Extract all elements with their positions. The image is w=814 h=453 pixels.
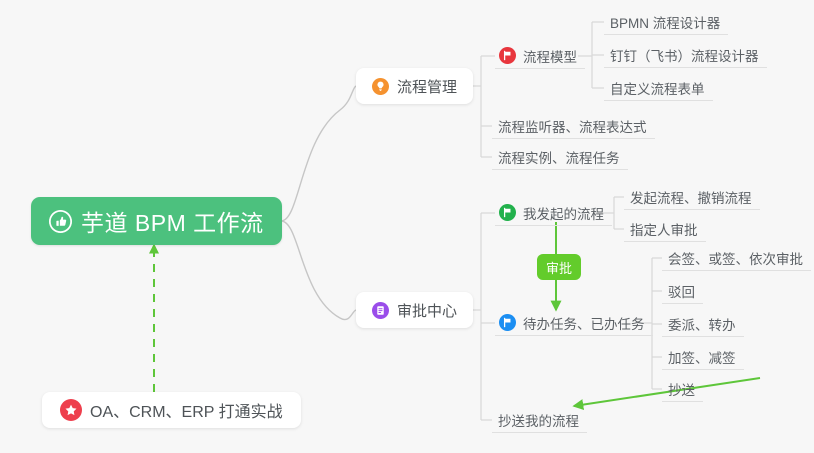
note-oa-crm-erp[interactable]: OA、CRM、ERP 打通实战: [42, 392, 301, 428]
node-label: 流程模型: [523, 46, 577, 66]
flag-icon: [499, 314, 516, 331]
node-my-started[interactable]: 我发起的流程: [495, 200, 612, 226]
node-label: 委派、转办: [668, 314, 736, 334]
node-add-remove-sign[interactable]: 加签、减签: [662, 344, 744, 370]
node-label: BPMN 流程设计器: [610, 12, 720, 32]
node-label: 待办任务、已办任务: [523, 313, 645, 333]
note-label: OA、CRM、ERP 打通实战: [90, 398, 283, 422]
node-label: 钉钉（飞书）流程设计器: [610, 45, 759, 65]
node-label: 发起流程、撤销流程: [630, 187, 752, 207]
node-label: 我发起的流程: [523, 203, 604, 223]
clipboard-icon: [372, 302, 389, 319]
node-label: 驳回: [668, 281, 695, 301]
node-label: 加签、减签: [668, 347, 736, 367]
node-label: 抄送我的流程: [498, 410, 579, 430]
mindmap-canvas: 芋道 BPM 工作流 流程管理 流程模型 BPMN 流程设计器 钉钉（飞书）流程…: [0, 0, 814, 453]
node-listener-expression[interactable]: 流程监听器、流程表达式: [492, 113, 655, 139]
star-icon: [60, 399, 82, 421]
flag-icon: [499, 204, 516, 221]
root-node[interactable]: 芋道 BPM 工作流: [31, 197, 282, 245]
node-start-revoke[interactable]: 发起流程、撤销流程: [624, 184, 760, 210]
node-reject[interactable]: 驳回: [662, 278, 703, 304]
approval-pill-label: 审批: [546, 258, 572, 277]
node-todo-done[interactable]: 待办任务、已办任务: [495, 310, 653, 336]
node-bpmn-designer[interactable]: BPMN 流程设计器: [604, 9, 728, 35]
node-cc[interactable]: 抄送: [662, 376, 703, 402]
node-custom-form[interactable]: 自定义流程表单: [604, 75, 713, 101]
node-delegate-transfer[interactable]: 委派、转办: [662, 311, 744, 337]
branch-approval-center[interactable]: 审批中心: [356, 292, 473, 328]
branch-label: 审批中心: [397, 300, 457, 321]
edge-root-to-process-management: [281, 86, 356, 221]
node-cc-to-me[interactable]: 抄送我的流程: [492, 407, 587, 433]
node-label: 流程监听器、流程表达式: [498, 116, 647, 136]
node-assign-approver[interactable]: 指定人审批: [624, 216, 706, 242]
node-label: 抄送: [668, 379, 695, 399]
root-label: 芋道 BPM 工作流: [81, 204, 264, 238]
lightbulb-icon: [372, 78, 389, 95]
edge-root-to-approval-center: [281, 221, 356, 320]
node-dingtalk-designer[interactable]: 钉钉（飞书）流程设计器: [604, 42, 767, 68]
thumbs-up-icon: [49, 210, 72, 233]
node-label: 自定义流程表单: [610, 78, 705, 98]
node-instance-task[interactable]: 流程实例、流程任务: [492, 144, 628, 170]
node-process-model[interactable]: 流程模型: [495, 43, 585, 69]
node-countersign[interactable]: 会签、或签、依次审批: [662, 245, 811, 271]
flag-icon: [499, 47, 516, 64]
branch-label: 流程管理: [397, 76, 457, 97]
node-label: 流程实例、流程任务: [498, 147, 620, 167]
approval-annotation-pill: 审批: [537, 254, 581, 280]
node-label: 指定人审批: [630, 219, 698, 239]
node-label: 会签、或签、依次审批: [668, 248, 803, 268]
branch-process-management[interactable]: 流程管理: [356, 68, 473, 104]
